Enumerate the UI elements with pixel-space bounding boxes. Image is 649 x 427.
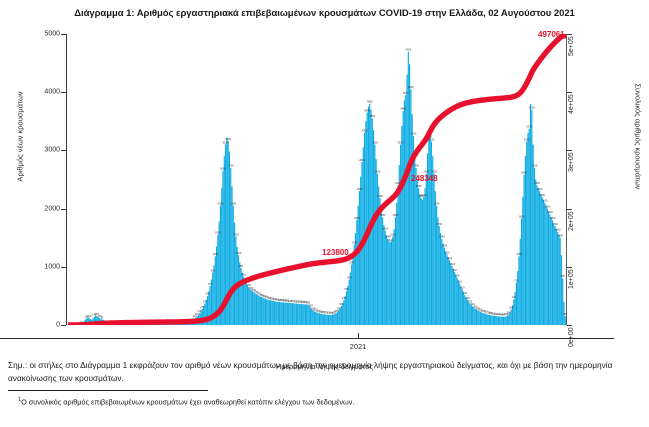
bar (552, 220, 553, 325)
bar (249, 289, 250, 325)
bar (480, 312, 481, 325)
bar-value-label: 2700 (228, 164, 234, 168)
bar-value-label: 3100 (398, 140, 404, 144)
bar (302, 304, 303, 325)
bar (345, 296, 346, 325)
bar-value-label: 275 (200, 305, 205, 309)
bar (262, 298, 263, 325)
annotation-cumulative-end: 497061 (538, 30, 565, 39)
annotation-cumulative-mid-1: 123800 (322, 248, 349, 257)
bar (261, 297, 262, 325)
bar (540, 194, 541, 325)
bar (498, 316, 499, 325)
bar (373, 130, 374, 325)
bar (301, 304, 302, 325)
bar-value-label: 1200 (236, 251, 242, 255)
bar (324, 315, 325, 325)
note-divider (8, 390, 208, 391)
bar (328, 315, 329, 325)
bar-value-label: 3680 (400, 107, 406, 111)
cumulative-line-series (69, 36, 566, 325)
bar (460, 287, 461, 325)
bar-value-label: 780 (347, 275, 352, 279)
bar-value-label: 1600 (555, 228, 561, 232)
bar-value-label: 3150 (524, 137, 530, 141)
bar (230, 168, 231, 325)
bar (538, 188, 539, 325)
bar (298, 304, 299, 325)
bar (419, 194, 420, 325)
bar (356, 220, 357, 325)
bar (405, 95, 406, 325)
bar (442, 244, 443, 325)
bar (543, 200, 544, 325)
y-axis-right-line (566, 34, 567, 325)
bar-value-label: 2000 (544, 204, 550, 208)
bar (439, 226, 440, 325)
bar (489, 315, 490, 325)
bar-value-label: 1800 (354, 216, 360, 220)
bar (428, 139, 429, 325)
bar (264, 298, 265, 325)
bar (355, 233, 356, 325)
bar (504, 317, 505, 325)
bar (365, 121, 366, 325)
bar (332, 315, 333, 325)
bar (397, 185, 398, 325)
bar (323, 314, 324, 325)
bar (341, 306, 342, 325)
y-axis-right-label: Συνολικός αριθμός κρουσμάτων (634, 57, 643, 217)
bar (287, 303, 288, 325)
bar (556, 229, 557, 325)
y-axis-left-tickmark-5000 (61, 34, 66, 35)
bar-value-label: 2650 (220, 167, 226, 171)
bar-value-label: 3800 (367, 100, 373, 104)
bar (296, 304, 297, 325)
bar (336, 313, 337, 325)
bar-value-labels: 1101201401501209511515020027537050067090… (85, 47, 566, 319)
bar-value-label: 325 (339, 302, 344, 306)
bar-value-label: 3250 (411, 132, 417, 136)
bar (271, 301, 272, 325)
bar-value-label: 2300 (357, 187, 363, 191)
bar (309, 306, 310, 325)
bar-value-label: 2200 (539, 193, 545, 197)
bar-value-label: 2050 (434, 201, 440, 205)
bar (491, 315, 492, 325)
bar (265, 299, 266, 325)
bar-value-label: 265 (509, 305, 514, 309)
bar (521, 218, 522, 325)
bar-value-label: 2300 (537, 187, 543, 191)
bar (551, 217, 552, 325)
bar-value-label: 670 (208, 282, 213, 286)
bar (506, 316, 507, 325)
bar (387, 239, 388, 325)
y-axis-left-tickmark-1000 (61, 267, 66, 268)
bar (472, 306, 473, 325)
bar (394, 229, 395, 325)
bar (239, 262, 240, 325)
bar (255, 293, 256, 325)
bar (544, 203, 545, 325)
bar-value-label: 1550 (215, 231, 221, 235)
bar (307, 305, 308, 325)
bar (445, 251, 446, 325)
y-axis-right-tick-1e05: 1e+05 (568, 255, 578, 289)
bar-value-label: 730 (514, 278, 519, 282)
bar-value-label: 580 (344, 287, 349, 291)
bar-value-label: 3650 (364, 108, 370, 112)
bar (316, 312, 317, 325)
bar (450, 263, 451, 325)
bar-value-label: 2200 (421, 193, 427, 197)
bar-value-label: 1330 (441, 243, 447, 247)
bar (448, 257, 449, 325)
bar (337, 312, 338, 325)
bar-value-label: 910 (452, 268, 457, 272)
bar (352, 255, 353, 325)
bar (347, 286, 348, 325)
bar (558, 235, 559, 325)
annotation-cumulative-mid-2: 248348 (411, 174, 438, 183)
y-axis-left-tickmark-2000 (61, 209, 66, 210)
y-axis-right-tick-4e05: 4e+05 (568, 80, 578, 114)
bar-value-label: 810 (455, 274, 460, 278)
bar (266, 299, 267, 325)
bar-value-label: 2700 (413, 164, 419, 168)
bar (481, 312, 482, 325)
bar (305, 304, 306, 325)
bar-value-label: 1110 (447, 256, 453, 260)
y-axis-left-tick-1000: 1000 (16, 263, 60, 270)
bar (322, 314, 323, 325)
bar (513, 299, 514, 325)
bar-value-label: 1180 (213, 252, 219, 256)
bar (303, 304, 304, 325)
bar (409, 64, 410, 325)
bar (319, 313, 320, 325)
bar-value-label: 2700 (532, 164, 538, 168)
bar (417, 180, 418, 326)
bar (406, 75, 407, 325)
bar-value-label: 4050 (408, 85, 414, 89)
bar (270, 300, 271, 325)
bar (488, 315, 489, 325)
bar-value-label: 180 (507, 310, 512, 314)
bar (507, 316, 508, 325)
bar-value-label: 2800 (359, 158, 365, 162)
bar-value-label: 3300 (362, 129, 368, 133)
bar-value-label: 1850 (380, 213, 386, 217)
bar (329, 315, 330, 325)
bar (292, 303, 293, 325)
bar-value-label: 2050 (230, 201, 236, 205)
bar (446, 255, 447, 325)
y-axis-left-line (66, 34, 67, 325)
bar-value-label: 3550 (369, 114, 375, 118)
bar-value-label: 3370 (526, 125, 532, 129)
bar (516, 283, 517, 325)
bar (231, 186, 232, 325)
bar (359, 191, 360, 325)
bar (314, 311, 315, 325)
bar (267, 300, 268, 325)
bar (327, 315, 328, 325)
bar (350, 273, 351, 325)
bar (391, 241, 392, 325)
bar (455, 275, 456, 325)
bar-value-label: 1180 (516, 252, 522, 256)
bar (376, 159, 377, 325)
bar (388, 241, 389, 325)
bar (313, 310, 314, 325)
bar-value-label: 3100 (372, 140, 378, 144)
bar (331, 315, 332, 325)
bar (457, 278, 458, 325)
bar (415, 168, 416, 325)
bar-value-label: 120 (87, 314, 92, 318)
y-axis-left: 0 1000 2000 3000 4000 5000 Αριθμός νέων … (0, 22, 68, 337)
bar (500, 317, 501, 325)
bar (257, 295, 258, 325)
bar (283, 302, 284, 325)
bar (342, 303, 343, 325)
bar-value-label: 2100 (542, 199, 548, 203)
bar (269, 300, 270, 325)
bar (300, 304, 301, 325)
bar (475, 309, 476, 325)
plot-canvas: 1101201401501209511515020027537050067090… (68, 34, 566, 325)
x-axis-tick-2021: 2021 (338, 342, 378, 351)
bar-value-label: 1380 (351, 240, 357, 244)
bar (477, 310, 478, 325)
plot-area: 1101201401501209511515020027537050067090… (68, 34, 566, 325)
bar (490, 315, 491, 325)
bar (251, 290, 252, 325)
bar (291, 303, 292, 325)
bar-value-label: 2350 (416, 184, 422, 188)
bar (424, 188, 425, 325)
y-axis-right-tick-3e05: 3e+05 (568, 138, 578, 172)
bar (246, 283, 247, 325)
x-axis-tickmark-2021 (358, 333, 359, 339)
bar (469, 303, 470, 325)
bar (533, 145, 534, 325)
bar (554, 226, 555, 325)
bar (253, 292, 254, 325)
bar (547, 209, 548, 325)
bar (284, 303, 285, 325)
bar-value-label: 2580 (521, 171, 527, 175)
bar (333, 315, 334, 325)
y-axis-left-tickmark-4000 (61, 92, 66, 93)
y-axis-right-tick-2e05: 2e+05 (568, 197, 578, 231)
bar-value-label: 1420 (387, 238, 393, 242)
bar (437, 217, 438, 325)
bar (463, 292, 464, 325)
bar (458, 281, 459, 325)
bar (306, 305, 307, 325)
bar (562, 278, 563, 325)
bar (553, 223, 554, 325)
bar-value-label: 1520 (390, 232, 396, 236)
bar (525, 156, 526, 325)
bar (351, 264, 352, 325)
bar-value-label: 1700 (552, 222, 558, 226)
bar (400, 145, 401, 325)
bar (494, 316, 495, 325)
bar (449, 260, 450, 325)
bar (252, 291, 253, 325)
bar-value-label: 250 (337, 306, 342, 310)
bar (340, 308, 341, 325)
bar (412, 114, 413, 325)
bar (431, 142, 432, 325)
bar (390, 242, 391, 325)
bar (297, 304, 298, 325)
bar (392, 237, 393, 325)
bar-value-label: 980 (239, 264, 244, 268)
bar-value-label: 95 (101, 315, 104, 319)
bar (247, 285, 248, 325)
bar-value-label: 2600 (431, 169, 437, 173)
bar (518, 256, 519, 325)
bar (256, 294, 257, 325)
bar (459, 284, 460, 325)
bar (529, 129, 530, 325)
bar-value-label: 1620 (382, 227, 388, 231)
bar (282, 302, 283, 325)
bar (435, 191, 436, 325)
bar (467, 300, 468, 325)
bar (499, 317, 500, 326)
bar-value-label: 2180 (377, 194, 383, 198)
bar-value-label: 500 (205, 292, 210, 296)
bar (479, 311, 480, 325)
bar (536, 185, 537, 325)
bar-value-label: 1210 (444, 250, 450, 254)
bar-value-label: 1850 (393, 213, 399, 217)
bar (288, 303, 289, 325)
bar-value-label: 800 (561, 274, 566, 278)
bar (557, 232, 558, 325)
bar (383, 225, 384, 325)
y-axis-left-tickmark-3000 (61, 150, 66, 151)
x-axis-line (0, 338, 614, 339)
bar-value-label: 3100 (223, 140, 229, 144)
bar (240, 268, 241, 325)
bar (495, 316, 496, 325)
bar-series (68, 51, 566, 325)
bar-value-label: 2050 (218, 201, 224, 205)
y-axis-right-tick-5e05: 5e+05 (568, 22, 578, 56)
bar (410, 89, 411, 325)
bar (260, 296, 261, 325)
chart-figure: 0 1000 2000 3000 4000 5000 Αριθμός νέων … (0, 22, 649, 352)
bar-value-label: 430 (342, 296, 347, 300)
bar-value-label: 1040 (349, 260, 355, 264)
bar (527, 133, 528, 325)
bar-value-label: 440 (512, 295, 517, 299)
bar-value-label: 3160 (225, 137, 231, 141)
bar (423, 197, 424, 325)
bar-value-label: 1800 (550, 216, 556, 220)
bar-value-label: 510 (463, 291, 468, 295)
bar-value-label: 1500 (557, 234, 563, 238)
bar (466, 298, 467, 325)
bar-value-label: 610 (460, 285, 465, 289)
bar (404, 100, 405, 325)
bar (548, 212, 549, 325)
bar (274, 301, 275, 325)
bar-value-label: 2600 (423, 169, 429, 173)
bar (471, 305, 472, 325)
bar (275, 301, 276, 325)
note-footnote-text: Ο συνολικός αριθμός επιβεβαιωμένων κρουσ… (21, 397, 354, 406)
bar (493, 316, 494, 325)
note-main: Σημ.: οι στήλες στο Διάγραμμα 1 εκφράζου… (8, 359, 642, 384)
bar-value-label: 1830 (519, 214, 525, 218)
bar (379, 198, 380, 325)
bar-value-label: 2600 (375, 169, 381, 173)
bar (422, 200, 423, 325)
bar-value-label: 710 (458, 279, 463, 283)
bar (401, 126, 402, 325)
bar (441, 239, 442, 325)
bar (382, 217, 383, 325)
bar (539, 191, 540, 325)
bar (468, 302, 469, 325)
bar (276, 302, 277, 325)
bar (396, 203, 397, 325)
bar (369, 104, 370, 325)
bar-value-label: 3700 (529, 105, 535, 109)
bar (248, 287, 249, 325)
bar (561, 255, 562, 325)
bar (289, 303, 290, 325)
bar (560, 238, 561, 325)
bar (273, 301, 274, 325)
bar (473, 308, 474, 325)
bar (325, 315, 326, 325)
bar (524, 175, 525, 325)
y-axis-right: 0e+00 1e+05 2e+05 3e+05 4e+05 5e+05 Συνο… (566, 22, 649, 337)
bar (503, 317, 504, 325)
bar (486, 314, 487, 325)
bar-value-label: 1700 (436, 222, 442, 226)
bar (542, 197, 543, 325)
bar (311, 309, 312, 325)
bar (526, 142, 527, 325)
bar (235, 237, 236, 325)
bar-value-label: 1900 (547, 210, 553, 214)
bar (531, 110, 532, 325)
bar (278, 302, 279, 325)
bar (476, 310, 477, 325)
bar (497, 316, 498, 325)
bar (386, 235, 387, 325)
bar (381, 209, 382, 325)
bar (484, 313, 485, 325)
bar (334, 314, 335, 325)
bar-value-label: 4700 (405, 47, 411, 51)
bar (294, 303, 295, 325)
bar (367, 113, 368, 325)
bar-value-label: 1520 (233, 232, 239, 236)
bar (485, 314, 486, 325)
